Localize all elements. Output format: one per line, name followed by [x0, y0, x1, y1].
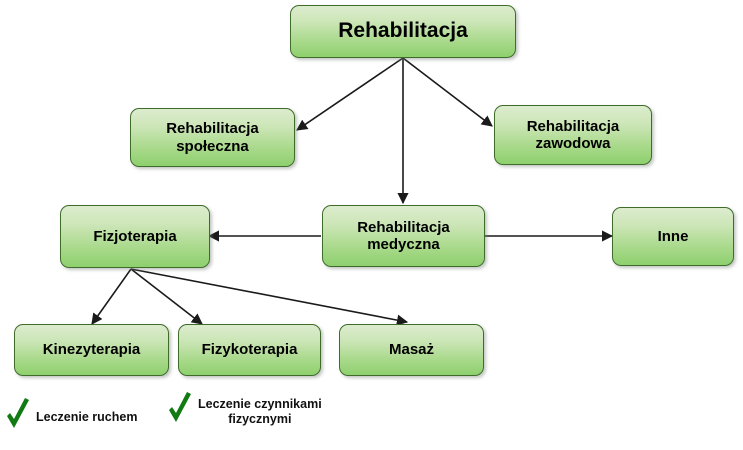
- node-fizjoterapia[interactable]: Fizjoterapia: [60, 205, 210, 268]
- node-kinezyterapia-label: Kinezyterapia: [43, 341, 141, 358]
- node-rehabilitacja-spoleczna-label: Rehabilitacja społeczna: [166, 120, 259, 155]
- node-inne-label: Inne: [658, 228, 689, 245]
- node-kinezyterapia[interactable]: Kinezyterapia: [14, 324, 169, 376]
- diagram-canvas: Rehabilitacja Rehabilitacja społeczna Re…: [0, 0, 743, 450]
- edge-rehabilitacja-zawodowa: [403, 58, 492, 126]
- node-rehabilitacja[interactable]: Rehabilitacja: [290, 5, 516, 58]
- legend-label-leczenie-ruchem: Leczenie ruchem: [36, 410, 137, 425]
- legend-item-leczenie-ruchem: Leczenie ruchem: [4, 398, 137, 437]
- node-fizykoterapia-label: Fizykoterapia: [202, 341, 298, 358]
- check-mark-icon: [166, 392, 194, 431]
- node-rehabilitacja-spoleczna[interactable]: Rehabilitacja społeczna: [130, 108, 295, 167]
- check-mark-icon: [4, 398, 32, 437]
- node-fizjoterapia-label: Fizjoterapia: [93, 228, 176, 245]
- node-rehabilitacja-medyczna-label: Rehabilitacja medyczna: [357, 219, 450, 254]
- legend-label-leczenie-czynnikami-fizycznymi: Leczenie czynnikami fizycznymi: [198, 397, 322, 427]
- node-rehabilitacja-zawodowa[interactable]: Rehabilitacja zawodowa: [494, 105, 652, 165]
- edge-fizjoterapia-masaz: [131, 269, 407, 322]
- node-rehabilitacja-medyczna[interactable]: Rehabilitacja medyczna: [322, 205, 485, 267]
- edge-fizjoterapia-kinezyterapia: [92, 269, 131, 324]
- node-masaz[interactable]: Masaż: [339, 324, 484, 376]
- node-inne[interactable]: Inne: [612, 207, 734, 266]
- node-rehabilitacja-zawodowa-label: Rehabilitacja zawodowa: [527, 118, 620, 153]
- node-rehabilitacja-label: Rehabilitacja: [338, 19, 468, 43]
- edge-fizjoterapia-fizykoterapia: [131, 269, 202, 324]
- node-fizykoterapia[interactable]: Fizykoterapia: [178, 324, 321, 376]
- node-masaz-label: Masaż: [389, 341, 434, 358]
- legend-item-leczenie-czynnikami-fizycznymi: Leczenie czynnikami fizycznymi: [166, 392, 322, 431]
- edge-rehabilitacja-spoleczna: [297, 58, 403, 130]
